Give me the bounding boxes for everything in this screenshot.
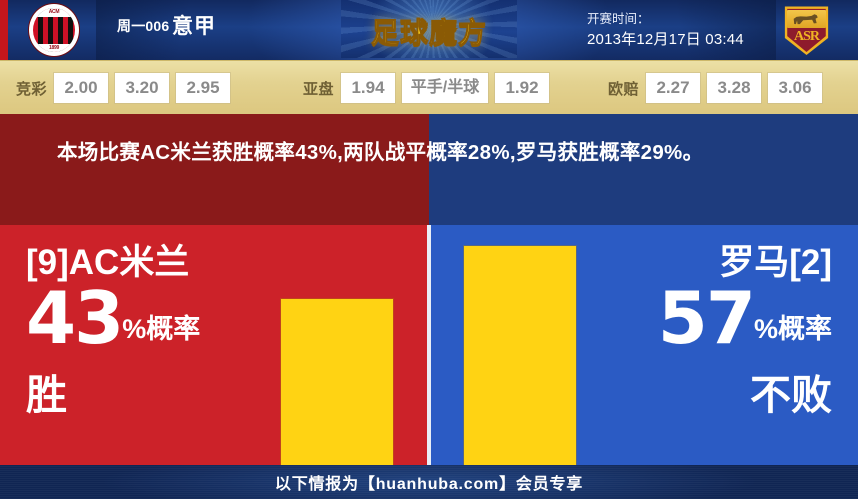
home-probability-value: 43 xyxy=(26,285,122,351)
match-round-label: 周一006 xyxy=(117,16,169,36)
odds-group-label: 欧赔 xyxy=(608,78,639,99)
panel-divider xyxy=(427,225,431,465)
odds-group-label: 亚盘 xyxy=(303,78,334,99)
league-name: 意甲 xyxy=(172,10,216,40)
summary-banner: 本场比赛AC米兰获胜概率43%,两队战平概率28%,罗马获胜概率29%。 xyxy=(0,114,858,225)
as-roma-monogram: ASR xyxy=(783,29,830,45)
header-bar: ACM 1899 周一006 意甲 足球魔方 开赛时间： 2013年12月17日… xyxy=(0,0,858,60)
match-prediction-infographic: ACM 1899 周一006 意甲 足球魔方 开赛时间： 2013年12月17日… xyxy=(0,0,858,499)
odds-cell-european-draw[interactable]: 3.28 xyxy=(707,73,761,103)
summary-banner-right-bg xyxy=(429,114,858,225)
away-probability-line: 57 %概率 xyxy=(658,285,832,351)
odds-cell-jingcai-away[interactable]: 2.95 xyxy=(176,73,230,103)
home-probability-suffix: %概率 xyxy=(122,316,200,351)
home-outcome-label: 胜 xyxy=(26,375,67,416)
home-probability-bar xyxy=(281,299,393,465)
left-red-stripe xyxy=(0,0,8,60)
ac-milan-crest-stripes: ACM 1899 xyxy=(33,8,75,52)
odds-cell-jingcai-home[interactable]: 2.00 xyxy=(54,73,108,103)
odds-cell-asian-handicap-line[interactable]: 平手/半球 xyxy=(402,73,488,103)
away-probability-value: 57 xyxy=(658,285,754,351)
away-outcome-label: 不败 xyxy=(750,375,832,416)
odds-cell-european-home[interactable]: 2.27 xyxy=(646,73,700,103)
away-team-name: 罗马[2] xyxy=(552,245,832,280)
kickoff-time: 2013年12月17日 03:44 xyxy=(587,28,762,49)
odds-group-european: 欧赔 2.27 3.28 3.06 xyxy=(608,61,829,115)
brand-logo: 足球魔方 xyxy=(341,0,517,58)
home-probability-line: 43 %概率 xyxy=(26,285,200,351)
footer-text: 以下情报为【huanhuba.com】会员专享 xyxy=(275,470,583,494)
summary-banner-left-bg xyxy=(0,114,429,225)
odds-group-jingcai: 竞彩 2.00 3.20 2.95 xyxy=(16,61,237,115)
odds-cell-asian-home[interactable]: 1.94 xyxy=(341,73,395,103)
summary-text: 本场比赛AC米兰获胜概率43%,两队战平概率28%,罗马获胜概率29%。 xyxy=(57,138,785,167)
odds-cell-european-away[interactable]: 3.06 xyxy=(768,73,822,103)
home-team-name: [9]AC米兰 xyxy=(26,245,286,280)
odds-bar: 竞彩 2.00 3.20 2.95 亚盘 1.94 平手/半球 1.92 欧赔 … xyxy=(0,60,858,116)
ac-milan-crest-icon: ACM 1899 xyxy=(29,4,79,56)
brand-logo-text: 足球魔方 xyxy=(341,11,517,51)
odds-group-label: 竞彩 xyxy=(16,78,47,99)
odds-cell-jingcai-draw[interactable]: 3.20 xyxy=(115,73,169,103)
odds-group-asian-handicap: 亚盘 1.94 平手/半球 1.92 xyxy=(303,61,556,115)
probability-chart: [9]AC米兰 43 %概率 胜 罗马[2] 57 %概率 不败 xyxy=(0,225,858,465)
footer-bar: 以下情报为【huanhuba.com】会员专享 xyxy=(0,465,858,499)
odds-cell-asian-away[interactable]: 1.92 xyxy=(495,73,549,103)
kickoff-label: 开赛时间： xyxy=(587,8,762,27)
ac-milan-crest-bottom-text: 1899 xyxy=(49,45,59,51)
ac-milan-crest-top-text: ACM xyxy=(49,9,60,15)
as-roma-crest-icon: ASR xyxy=(783,5,830,55)
away-probability-suffix: %概率 xyxy=(754,316,832,351)
